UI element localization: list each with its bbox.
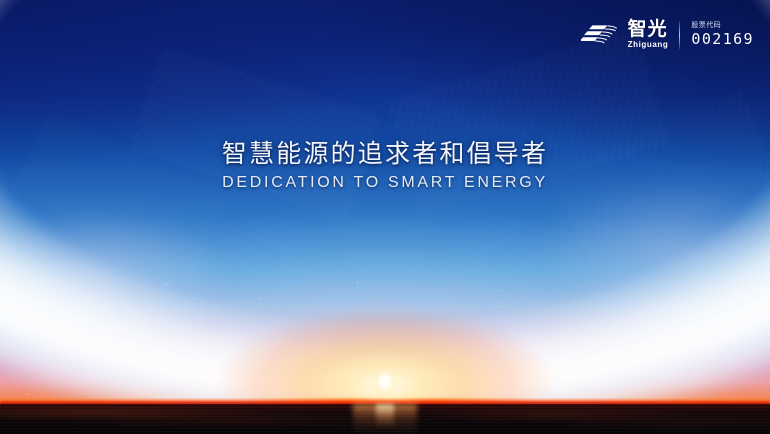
sun-reflection-core <box>376 404 394 428</box>
hero-banner: 智慧能源的追求者和倡导者 DEDICATION TO SMART ENERGY <box>0 0 770 434</box>
stock-code-block: 股票代码 002169 <box>691 22 754 47</box>
brand-lockup[interactable]: 智光 Zhiguang 股票代码 002169 <box>581 20 754 49</box>
zhiguang-speedlines-icon <box>581 23 621 47</box>
brand-divider <box>679 21 680 49</box>
company-logo[interactable]: 智光 Zhiguang <box>581 20 669 49</box>
sun-disc <box>373 369 397 397</box>
stock-code-value: 002169 <box>691 32 754 47</box>
logo-name-english: Zhiguang <box>628 41 669 49</box>
stock-code-label: 股票代码 <box>691 22 721 29</box>
logo-name-chinese: 智光 <box>628 20 668 39</box>
logo-wordmark: 智光 Zhiguang <box>628 20 669 49</box>
